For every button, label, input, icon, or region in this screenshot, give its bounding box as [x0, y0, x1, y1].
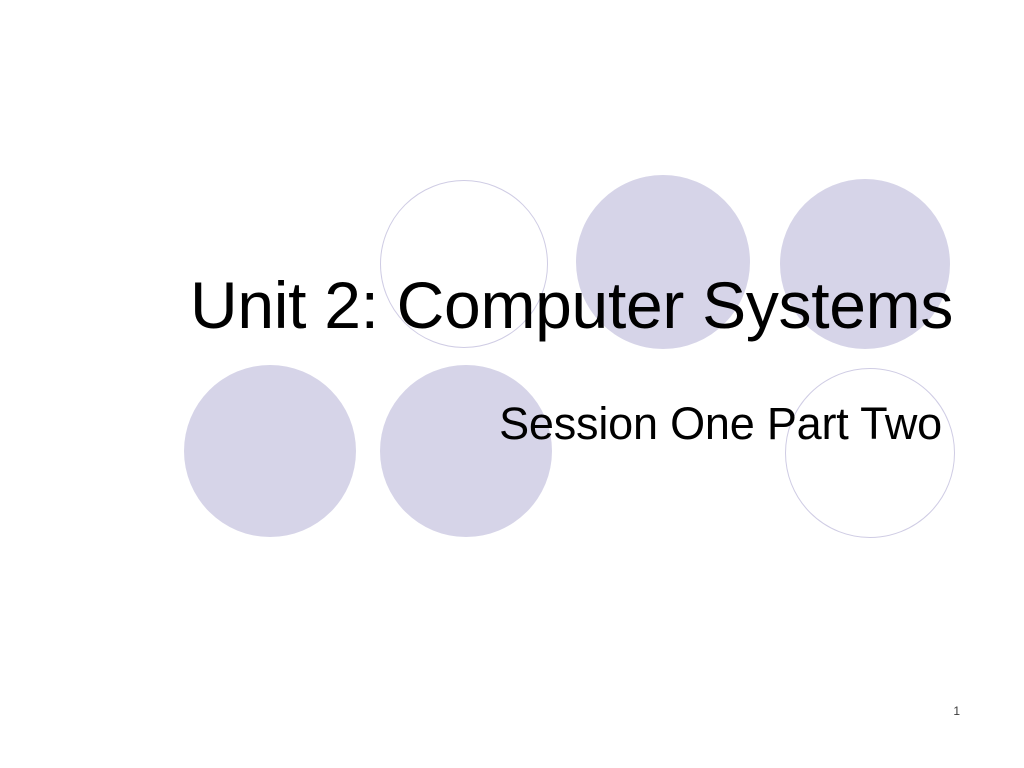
circle-bottom-left-filled — [184, 365, 356, 537]
title-placeholder[interactable]: Unit 2: Computer Systems — [190, 272, 950, 339]
circle-bottom-right-outlined — [785, 368, 955, 538]
decorative-circles-group — [0, 0, 1024, 768]
circle-bottom-middle-filled — [380, 365, 552, 537]
slide-subtitle: Session One Part Two — [180, 400, 942, 447]
slide-title: Unit 2: Computer Systems — [190, 272, 950, 339]
presentation-slide: Unit 2: Computer Systems Session One Par… — [0, 0, 1024, 768]
slide-page-number: 1 — [920, 704, 960, 718]
subtitle-placeholder[interactable]: Session One Part Two — [180, 400, 942, 447]
